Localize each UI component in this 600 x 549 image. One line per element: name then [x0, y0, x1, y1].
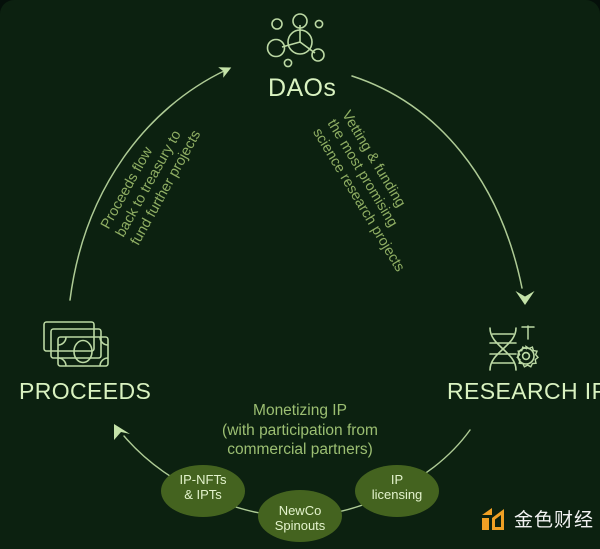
- molecule-network-icon: [258, 8, 338, 70]
- pill-label-line: IP: [359, 472, 435, 487]
- arc-caption-line: Monetizing IP: [0, 401, 600, 421]
- pill-label-line: IP-NFTs: [165, 472, 241, 487]
- arc-caption-line: (with participation from: [0, 421, 600, 441]
- watermark-text: 金色财经: [514, 505, 594, 532]
- dna-certificate-icon: [482, 318, 546, 380]
- arrowhead-down-research: [516, 291, 535, 305]
- pill-label-line: Spinouts: [262, 518, 338, 533]
- arc-caption-research-to-proceeds: Monetizing IP (with participation from c…: [0, 401, 600, 460]
- node-label-daos: DAOs: [268, 74, 336, 103]
- pill-label-line: licensing: [359, 487, 435, 502]
- pill-label-ip-nfts: IP-NFTs & IPTs: [165, 472, 241, 502]
- banknotes-stack-icon: [40, 318, 114, 374]
- jinse-logo-icon: [480, 506, 506, 532]
- pill-label-ip-licensing: IP licensing: [359, 472, 435, 502]
- pill-label-newco: NewCo Spinouts: [262, 503, 338, 533]
- diagram-artboard: DAOs RESEARCH IP PROCEEDS Vetting & fund…: [0, 0, 600, 549]
- diagram-canvas: DAOs RESEARCH IP PROCEEDS Vetting & fund…: [0, 0, 600, 549]
- pill-label-line: NewCo: [262, 503, 338, 518]
- pill-label-line: & IPTs: [165, 487, 241, 502]
- arc-caption-line: commercial partners): [0, 440, 600, 460]
- watermark: 金色财经: [480, 505, 594, 532]
